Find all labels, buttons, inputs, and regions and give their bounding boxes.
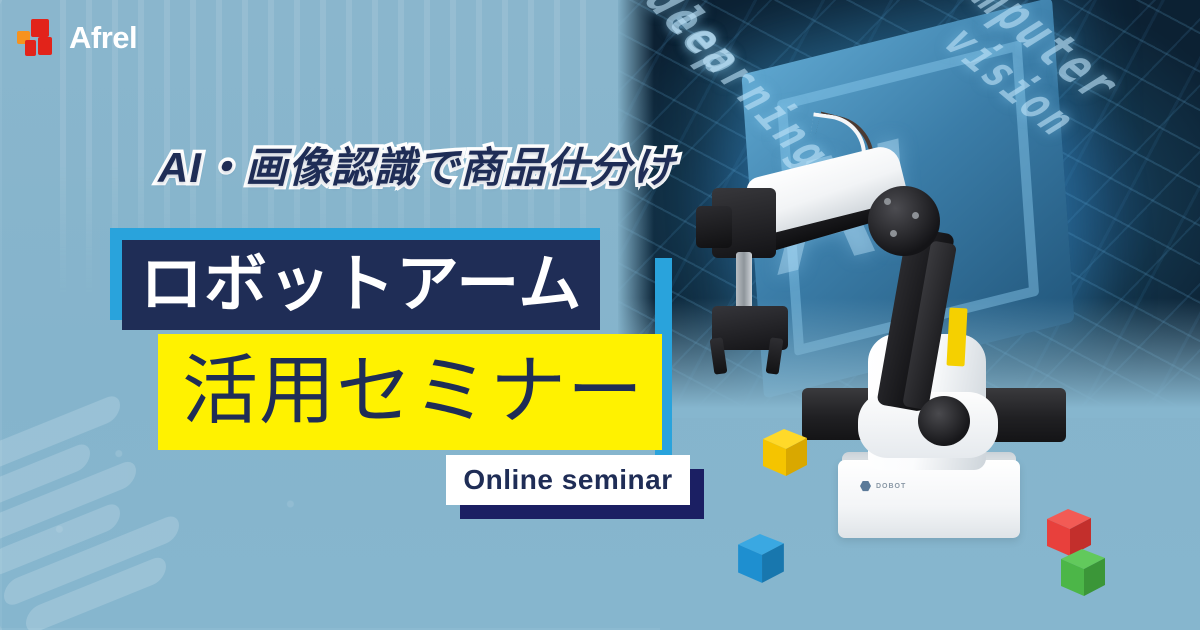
afrel-logo-text: Afrel [69, 20, 137, 56]
title-line-1: ロボットアーム [140, 254, 582, 317]
afrel-logo[interactable]: Afrel [16, 18, 137, 58]
cube-shape [760, 426, 810, 480]
dobot-brand: DOBOT [860, 480, 940, 492]
robot-linear-rail [736, 252, 752, 314]
afrel-blocks-icon [16, 18, 60, 58]
robot-warning-label [946, 308, 967, 367]
robot-wrist-servo [696, 206, 732, 248]
cube-yellow [760, 426, 810, 480]
cube-shape [1057, 548, 1109, 598]
cube-blue [735, 533, 787, 585]
seminar-badge-label: Online seminar [463, 464, 672, 496]
title-yellow-box: 活用セミナー [158, 334, 662, 450]
dobot-brand-label: DOBOT [876, 483, 906, 490]
title-line-2: 活用セミナー [182, 354, 644, 430]
dobot-hex-icon [860, 481, 871, 492]
cube-shape [735, 533, 787, 585]
seminar-badge: Online seminar [446, 455, 690, 505]
tagline: AI・画像認識で商品仕分け [158, 134, 675, 195]
robot-elbow-joint [868, 186, 940, 256]
robot-shoulder-joint [918, 396, 970, 446]
cube-green [1057, 548, 1109, 598]
robot-base: DOBOT [838, 460, 1020, 538]
banner-canvas: AI deep learning computer vision DOBOT [0, 0, 1200, 630]
title-navy-box: ロボットアーム [122, 240, 600, 330]
